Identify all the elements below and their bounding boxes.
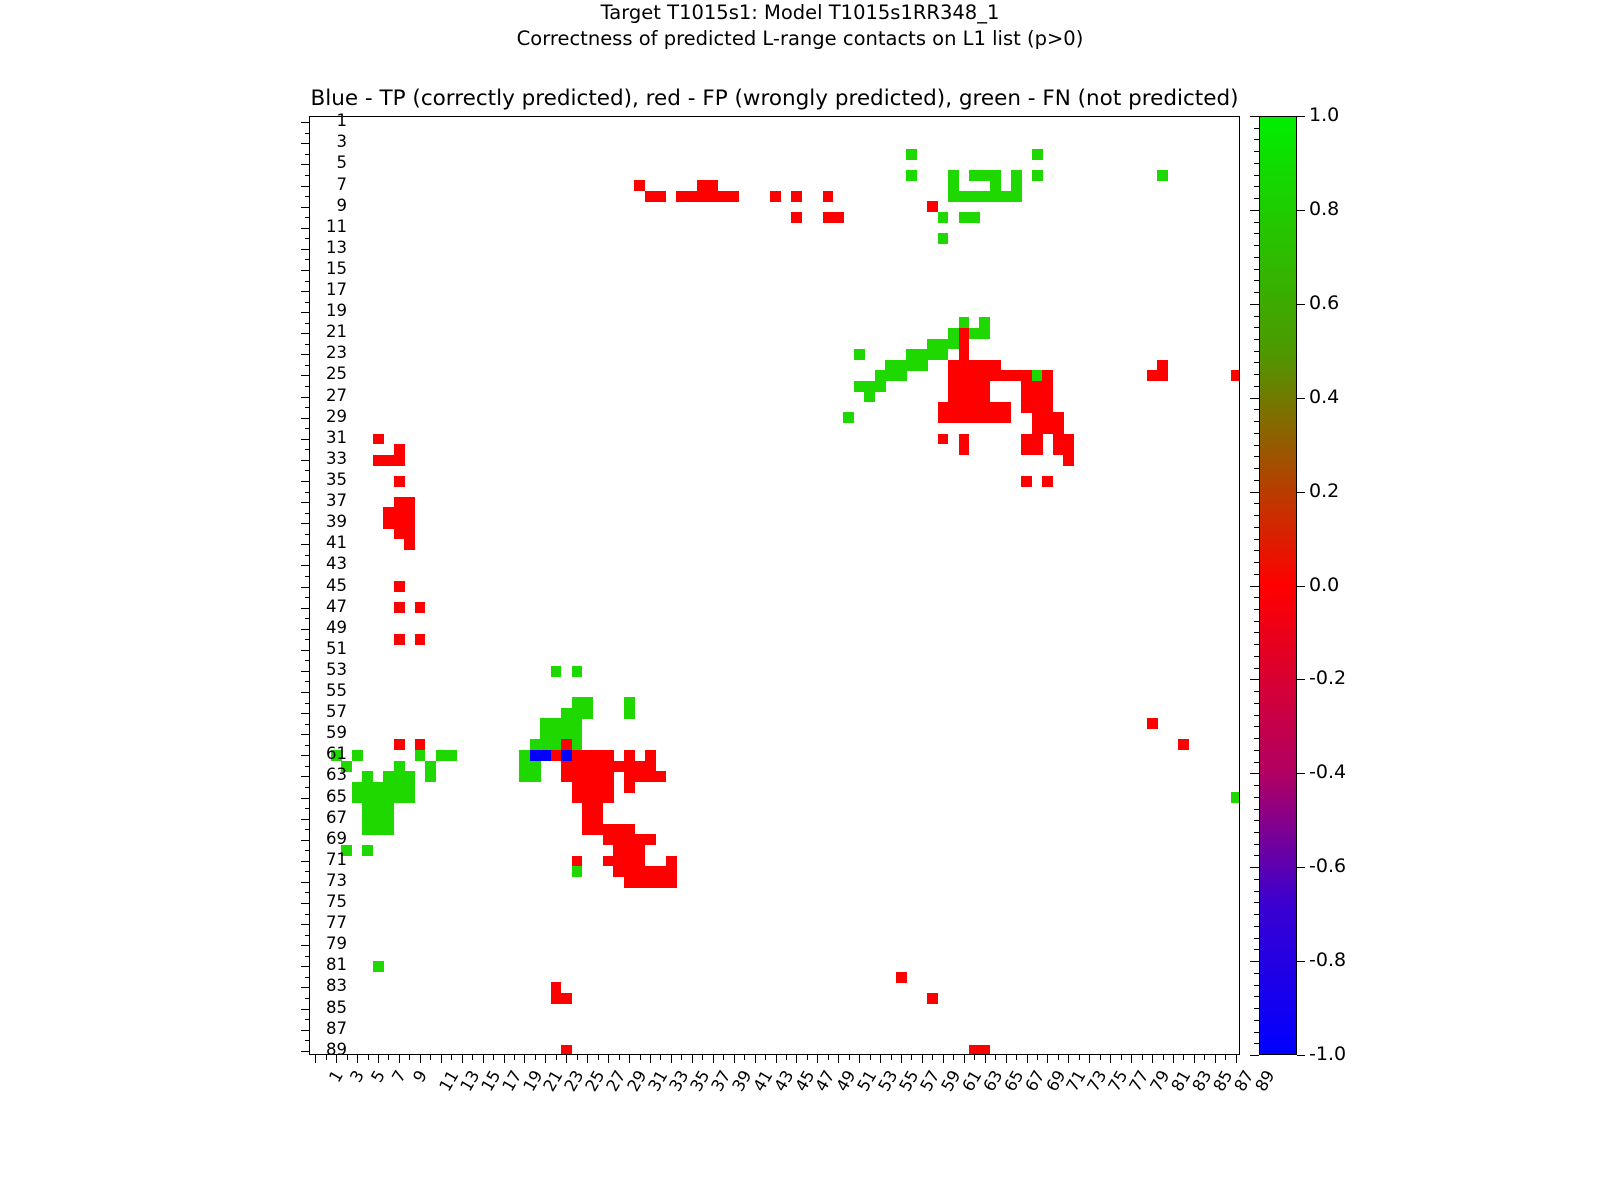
contact-cell — [572, 718, 583, 729]
contact-cell — [394, 581, 405, 592]
y-tick-label: 61 — [326, 746, 347, 762]
y-tick-major — [301, 354, 310, 355]
contact-cell — [1011, 370, 1022, 381]
contact-cell — [572, 866, 583, 877]
contact-cell — [969, 370, 980, 381]
colorbar-ruler-tick — [1254, 233, 1260, 234]
colorbar-ruler-tick — [1254, 445, 1260, 446]
y-tick-minor — [305, 914, 311, 915]
contact-cell — [990, 402, 1001, 413]
colorbar-ruler-tick — [1254, 527, 1260, 528]
x-tick-minor — [493, 1054, 494, 1060]
contact-map-plot-area[interactable] — [309, 116, 1240, 1055]
colorbar-ruler-tick — [1254, 644, 1260, 645]
contact-cell — [1042, 423, 1053, 434]
y-tick-label: 9 — [337, 198, 348, 214]
contact-cell — [613, 866, 624, 877]
contact-cell — [1011, 170, 1022, 181]
contact-cell — [938, 434, 949, 445]
contact-cell — [906, 349, 917, 360]
contact-cell — [519, 771, 530, 782]
x-tick-major — [1152, 1054, 1153, 1063]
y-tick-major — [301, 397, 310, 398]
colorbar-gradient — [1259, 116, 1297, 1055]
x-tick-major — [922, 1054, 923, 1063]
colorbar-tick-label: -0.4 — [1309, 763, 1346, 782]
contact-cell — [352, 750, 363, 761]
colorbar-ruler-tick — [1254, 339, 1260, 340]
colorbar-ruler-tick — [1254, 668, 1260, 669]
contact-cell — [885, 370, 896, 381]
contact-cell — [383, 507, 394, 518]
contact-cell — [624, 708, 635, 719]
x-tick-major — [671, 1054, 672, 1063]
x-tick-label: 89 — [1251, 1067, 1278, 1095]
y-tick-major — [301, 1051, 310, 1052]
colorbar-tick — [1297, 492, 1305, 493]
y-tick-label: 3 — [337, 134, 348, 150]
y-tick-label: 21 — [326, 324, 347, 340]
y-tick-major — [301, 608, 310, 609]
colorbar-ruler-tick — [1254, 949, 1260, 950]
y-tick-major — [301, 460, 310, 461]
y-tick-major — [301, 903, 310, 904]
y-tick-label: 53 — [326, 662, 347, 678]
y-tick-minor — [305, 597, 311, 598]
contact-cell — [791, 212, 802, 223]
x-tick-major — [1236, 1054, 1237, 1063]
contact-cell — [415, 602, 426, 613]
x-tick-minor — [1142, 1054, 1143, 1060]
x-tick-minor — [974, 1054, 975, 1060]
contact-cell — [948, 391, 959, 402]
x-tick-major — [650, 1054, 651, 1063]
y-tick-minor — [305, 534, 311, 535]
contact-cell — [383, 455, 394, 466]
x-tick-minor — [1225, 1054, 1226, 1060]
colorbar-ruler-tick — [1254, 891, 1260, 892]
contact-cell — [979, 370, 990, 381]
contact-cell — [362, 771, 373, 782]
contact-cell — [404, 497, 415, 508]
y-tick-minor — [305, 892, 311, 893]
contact-cell — [634, 834, 645, 845]
contact-cell — [582, 792, 593, 803]
contact-cell — [770, 191, 781, 202]
x-tick-major — [1131, 1054, 1132, 1063]
x-tick-major — [545, 1054, 546, 1063]
colorbar-ruler-tick — [1254, 515, 1260, 516]
contact-cell — [1063, 455, 1074, 466]
colorbar-ruler-tick — [1254, 574, 1260, 575]
contact-cell — [572, 739, 583, 750]
colorbar-ruler-tick — [1254, 926, 1260, 927]
contact-cell — [885, 360, 896, 371]
contact-cell — [603, 771, 614, 782]
contact-cell — [979, 412, 990, 423]
y-tick-minor — [305, 745, 311, 746]
colorbar-ruler-tick — [1254, 762, 1260, 763]
x-tick-label: 1 — [325, 1067, 347, 1086]
contact-cell — [613, 834, 624, 845]
y-tick-minor — [305, 977, 311, 978]
contact-cell — [948, 170, 959, 181]
contact-cell — [634, 761, 645, 772]
x-tick-minor — [702, 1054, 703, 1060]
axes-title: Blue - TP (correctly predicted), red - F… — [309, 86, 1240, 111]
contact-cell — [645, 750, 656, 761]
contact-cell — [917, 360, 928, 371]
contact-cell — [728, 191, 739, 202]
contact-cell — [373, 434, 384, 445]
colorbar-ruler-tick — [1254, 163, 1260, 164]
y-tick-minor — [305, 259, 311, 260]
y-tick-major — [301, 186, 310, 187]
x-tick-major — [587, 1054, 588, 1063]
contact-cell — [959, 317, 970, 328]
contact-cell — [582, 761, 593, 772]
x-tick-major — [943, 1054, 944, 1063]
contact-cell — [624, 697, 635, 708]
x-tick-major — [1215, 1054, 1216, 1063]
colorbar-ruler-tick — [1254, 609, 1260, 610]
y-tick-major — [301, 755, 310, 756]
y-tick-minor — [305, 871, 311, 872]
x-tick-minor — [870, 1054, 871, 1060]
contact-cell — [1147, 370, 1158, 381]
y-tick-minor — [305, 323, 311, 324]
contact-cell — [948, 328, 959, 339]
contact-cell — [561, 761, 572, 772]
colorbar-ruler-tick — [1254, 691, 1260, 692]
contact-cell — [655, 191, 666, 202]
contact-cell — [990, 170, 1001, 181]
contact-cell — [530, 761, 541, 772]
contact-cell — [394, 771, 405, 782]
contact-cell — [1032, 444, 1043, 455]
y-tick-label: 33 — [326, 451, 347, 467]
y-tick-major — [301, 122, 310, 123]
colorbar-ruler-tick — [1250, 492, 1259, 493]
contact-cell — [624, 856, 635, 867]
contact-cell — [415, 634, 426, 645]
y-tick-major — [301, 798, 310, 799]
contact-cell — [896, 360, 907, 371]
colorbar-ruler-tick — [1254, 597, 1260, 598]
contact-cell — [603, 792, 614, 803]
y-tick-minor — [305, 1040, 311, 1041]
contact-cell — [655, 771, 666, 782]
y-tick-minor — [305, 998, 311, 999]
x-tick-minor — [430, 1054, 431, 1060]
contact-cell — [404, 539, 415, 550]
contact-cell — [561, 729, 572, 740]
colorbar-ruler-tick — [1254, 362, 1260, 363]
x-tick-major — [734, 1054, 735, 1063]
contact-cell — [592, 750, 603, 761]
contact-cell — [551, 718, 562, 729]
colorbar-ruler-tick — [1254, 820, 1260, 821]
contact-cell — [394, 739, 405, 750]
contact-cell — [645, 761, 656, 772]
y-tick-minor — [305, 555, 311, 556]
contact-cell — [561, 993, 572, 1004]
x-tick-minor — [514, 1054, 515, 1060]
contact-cell — [404, 507, 415, 518]
contact-cell — [551, 729, 562, 740]
y-tick-label: 67 — [326, 810, 347, 826]
y-tick-label: 15 — [326, 261, 347, 277]
colorbar-ruler-tick — [1254, 503, 1260, 504]
contact-cell — [979, 317, 990, 328]
contact-cell — [425, 771, 436, 782]
contact-cell — [603, 824, 614, 835]
contact-cell — [634, 845, 645, 856]
contact-cell — [959, 370, 970, 381]
contact-cell — [582, 824, 593, 835]
y-tick-minor — [305, 344, 311, 345]
contact-cell — [969, 191, 980, 202]
contact-cell — [634, 771, 645, 782]
colorbar-ruler-tick — [1254, 139, 1260, 140]
x-tick-label: 7 — [388, 1067, 410, 1086]
contact-cell — [927, 339, 938, 350]
contact-cell — [530, 771, 541, 782]
y-tick-major — [301, 291, 310, 292]
y-tick-minor — [305, 829, 311, 830]
y-tick-label: 31 — [326, 430, 347, 446]
colorbar-ruler-tick — [1254, 809, 1260, 810]
x-tick-minor — [1204, 1054, 1205, 1060]
colorbar-ruler-tick — [1254, 128, 1260, 129]
x-tick-minor — [1121, 1054, 1122, 1060]
contact-cell — [948, 381, 959, 392]
contact-cell — [969, 328, 980, 339]
contact-cell — [394, 792, 405, 803]
contact-cell — [540, 718, 551, 729]
x-tick-major — [1194, 1054, 1195, 1063]
colorbar-ruler-tick — [1250, 961, 1259, 962]
x-tick-minor — [556, 1054, 557, 1060]
contact-cell — [938, 349, 949, 360]
contact-cell — [1178, 739, 1189, 750]
contact-cell — [1032, 434, 1043, 445]
colorbar-ruler-tick — [1254, 175, 1260, 176]
contact-cell — [791, 191, 802, 202]
contact-cell — [394, 761, 405, 772]
contact-cell — [1053, 444, 1064, 455]
x-tick-major — [901, 1054, 902, 1063]
contact-cell — [1021, 391, 1032, 402]
contact-cell — [959, 328, 970, 339]
y-tick-label: 39 — [326, 514, 347, 530]
colorbar-ruler-tick — [1254, 726, 1260, 727]
x-tick-minor — [1079, 1054, 1080, 1060]
contact-cell — [613, 845, 624, 856]
contact-cell — [1021, 434, 1032, 445]
colorbar-ruler-tick — [1254, 186, 1260, 187]
contact-cell — [896, 370, 907, 381]
y-tick-major — [301, 249, 310, 250]
contact-cell — [551, 750, 562, 761]
y-tick-label: 89 — [326, 1042, 347, 1058]
contact-cell — [624, 877, 635, 888]
contact-cell — [383, 803, 394, 814]
contact-cell — [582, 782, 593, 793]
x-tick-minor — [995, 1054, 996, 1060]
x-tick-minor — [640, 1054, 641, 1060]
colorbar-ruler-tick — [1254, 351, 1260, 352]
y-tick-minor — [305, 281, 311, 282]
contact-cell — [990, 412, 1001, 423]
contact-cell — [959, 391, 970, 402]
contact-cell — [1021, 370, 1032, 381]
contact-cell — [561, 739, 572, 750]
colorbar-ruler-tick — [1254, 844, 1260, 845]
contact-cell — [1042, 476, 1053, 487]
contact-cell — [1032, 412, 1043, 423]
x-tick-major — [755, 1054, 756, 1063]
y-tick-label: 45 — [326, 578, 347, 594]
contact-cell — [572, 771, 583, 782]
x-tick-major — [399, 1054, 400, 1063]
contact-cell — [540, 729, 551, 740]
contact-cell — [979, 402, 990, 413]
x-tick-major — [524, 1054, 525, 1063]
contact-cell — [572, 782, 583, 793]
x-tick-minor — [368, 1054, 369, 1060]
colorbar-ruler-tick — [1254, 973, 1260, 974]
y-tick-minor — [305, 956, 311, 957]
contact-cell — [1032, 149, 1043, 160]
colorbar-tick — [1297, 773, 1305, 774]
contact-cell — [383, 813, 394, 824]
y-tick-minor — [305, 639, 311, 640]
colorbar-ruler-tick — [1254, 656, 1260, 657]
x-tick-minor — [786, 1054, 787, 1060]
y-tick-major — [301, 734, 310, 735]
contact-cell — [592, 824, 603, 835]
colorbar-ruler-tick — [1254, 715, 1260, 716]
colorbar-ruler-tick — [1254, 632, 1260, 633]
y-tick-major — [301, 565, 310, 566]
y-tick-major — [301, 1030, 310, 1031]
contact-cell — [1157, 360, 1168, 371]
x-tick-minor — [849, 1054, 850, 1060]
y-tick-label: 59 — [326, 725, 347, 741]
y-tick-major — [301, 924, 310, 925]
contact-cell — [959, 402, 970, 413]
y-tick-label: 17 — [326, 282, 347, 298]
x-tick-major — [880, 1054, 881, 1063]
contact-cell — [551, 739, 562, 750]
contact-cell — [572, 792, 583, 803]
y-tick-major — [301, 692, 310, 693]
contact-cell — [917, 349, 928, 360]
contact-cell — [530, 739, 541, 750]
y-tick-minor — [305, 724, 311, 725]
contact-cell — [1021, 444, 1032, 455]
contact-cell — [1231, 792, 1239, 803]
colorbar-outer-ticks — [1249, 116, 1259, 1055]
colorbar-ruler-tick — [1254, 222, 1260, 223]
colorbar-ruler-tick — [1254, 292, 1260, 293]
x-tick-major — [985, 1054, 986, 1063]
colorbar-ruler-tick — [1254, 996, 1260, 997]
x-tick-minor — [1058, 1054, 1059, 1060]
contact-cell — [1032, 170, 1043, 181]
colorbar-tick-label: -0.6 — [1309, 857, 1346, 876]
contact-cell — [655, 877, 666, 888]
x-tick-major — [462, 1054, 463, 1063]
y-tick-label: 35 — [326, 472, 347, 488]
colorbar-ruler-tick — [1254, 245, 1260, 246]
y-tick-minor — [305, 365, 311, 366]
contact-cell — [708, 180, 719, 191]
colorbar-ruler-tick — [1254, 562, 1260, 563]
y-tick-label: 65 — [326, 789, 347, 805]
y-tick-label: 7 — [337, 177, 348, 193]
x-tick-minor — [388, 1054, 389, 1060]
contact-cell — [1053, 412, 1064, 423]
y-tick-minor — [305, 428, 311, 429]
colorbar-ruler-tick — [1254, 327, 1260, 328]
contact-cell — [582, 803, 593, 814]
colorbar: 1.00.80.60.40.20.0-0.2-0.4-0.6-0.8-1.0 — [1259, 116, 1297, 1055]
colorbar-ruler-tick — [1250, 586, 1259, 587]
contact-cell — [624, 866, 635, 877]
y-tick-label: 87 — [326, 1021, 347, 1037]
contact-cell — [979, 381, 990, 392]
contact-cell — [979, 170, 990, 181]
contact-cell — [938, 339, 949, 350]
y-tick-label: 81 — [326, 957, 347, 973]
contact-cell — [373, 813, 384, 824]
x-tick-minor — [577, 1054, 578, 1060]
contact-cell — [436, 750, 447, 761]
y-tick-minor — [305, 175, 311, 176]
colorbar-tick-label: -0.8 — [1309, 951, 1346, 970]
colorbar-ruler-tick — [1254, 879, 1260, 880]
x-tick-major — [441, 1054, 442, 1063]
contact-cell — [1032, 402, 1043, 413]
contact-cell — [551, 982, 562, 993]
y-tick-major — [301, 819, 310, 820]
x-tick-major — [378, 1054, 379, 1063]
contact-cell — [969, 1045, 980, 1054]
contact-cell — [624, 782, 635, 793]
colorbar-ruler-tick — [1254, 421, 1260, 422]
colorbar-tick — [1297, 867, 1305, 868]
y-tick-minor — [305, 407, 311, 408]
y-tick-label: 47 — [326, 599, 347, 615]
contact-cell — [1157, 370, 1168, 381]
x-tick-minor — [451, 1054, 452, 1060]
y-tick-label: 75 — [326, 894, 347, 910]
contact-cell — [592, 771, 603, 782]
contact-cell — [394, 634, 405, 645]
y-tick-major — [301, 312, 310, 313]
y-tick-minor — [305, 513, 311, 514]
colorbar-ruler-tick — [1254, 280, 1260, 281]
colorbar-tick-label: 0.2 — [1309, 482, 1339, 501]
x-tick-major — [504, 1054, 505, 1063]
x-tick-major — [817, 1054, 818, 1063]
colorbar-ruler-tick — [1254, 550, 1260, 551]
contact-cell — [948, 412, 959, 423]
y-tick-major — [301, 713, 310, 714]
contact-cell — [645, 834, 656, 845]
